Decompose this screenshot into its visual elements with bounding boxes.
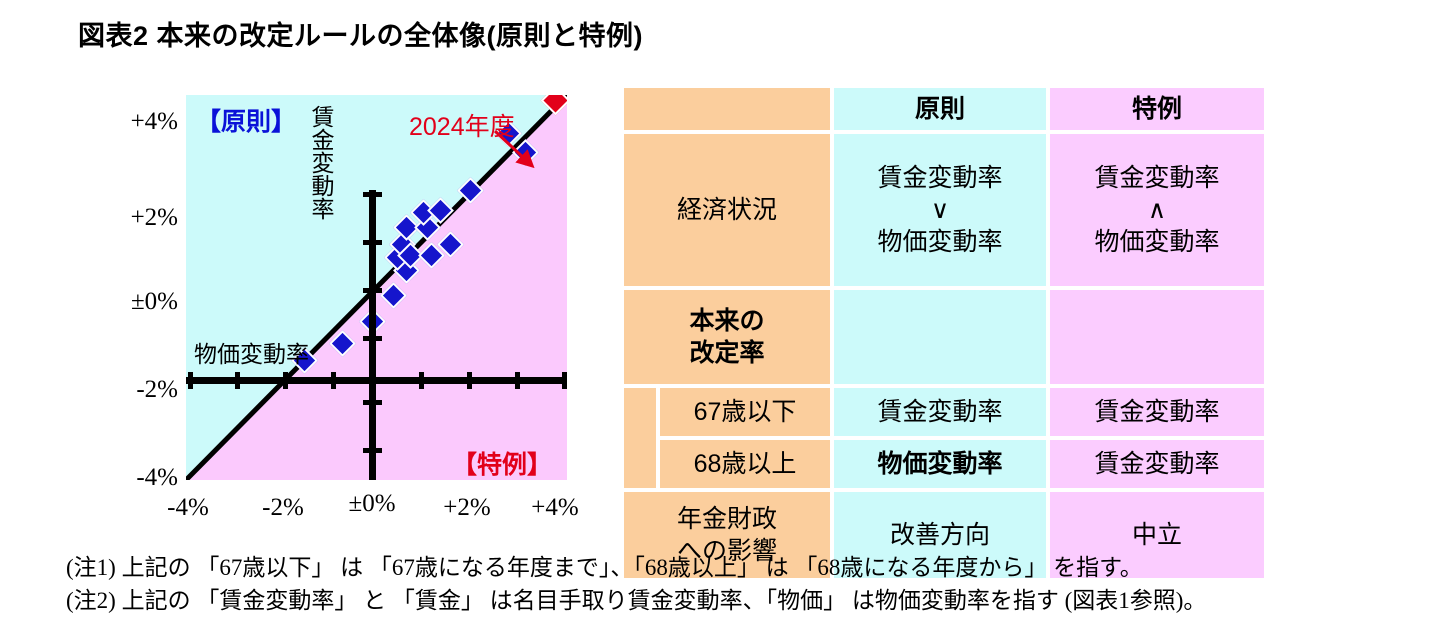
x-tick-label: -2% — [243, 494, 323, 522]
scatter-chart: 【原則】 【特例】 — [0, 80, 610, 540]
cell-revision-gensoku — [832, 288, 1048, 386]
x-tick-label: ±0% — [332, 490, 412, 518]
y-tick-label: ±0% — [131, 288, 178, 316]
x-tick — [562, 372, 567, 389]
annotation-arrow-icon — [492, 128, 552, 178]
y-tick — [363, 288, 382, 293]
y-tick-label: -2% — [136, 376, 178, 404]
row-label-over68: 68歳以上 — [658, 438, 832, 490]
row-label-economy: 経済状況 — [622, 132, 832, 288]
x-tick-label: +2% — [427, 494, 507, 522]
y-tick-label: +4% — [131, 108, 178, 136]
table-header-gensoku: 原則 — [832, 86, 1048, 132]
table-row-economy: 経済状況 賃金変動率 ∨ 物価変動率 賃金変動率 ∧ 物価変動率 — [622, 132, 1266, 288]
x-tick — [331, 372, 336, 389]
table-header-blank — [622, 86, 832, 132]
cell-line: 物価変動率 — [1050, 226, 1264, 258]
x-tick — [283, 372, 288, 389]
x-axis-line — [186, 377, 567, 384]
x-tick-label: +4% — [515, 494, 595, 522]
cell-economy-gensoku: 賃金変動率 ∨ 物価変動率 — [832, 132, 1048, 288]
cell-line: 年金財政 — [624, 503, 830, 535]
region-label-tokurei: 【特例】 — [452, 445, 552, 480]
x-tick — [235, 372, 240, 389]
row-label-under67: 67歳以下 — [658, 386, 832, 438]
figure-notes: (注1) 上記の 「67歳以下」 は 「67歳になる年度まで」、「68歳以上」 … — [66, 552, 1446, 617]
y-tick-label: +2% — [131, 204, 178, 232]
x-axis-title: 物価変動率 — [194, 335, 309, 369]
table-header-tokurei: 特例 — [1048, 86, 1266, 132]
x-tick — [515, 372, 520, 389]
row-label-revision-rate: 本来の 改定率 — [622, 288, 832, 386]
y-tick — [363, 192, 382, 197]
cell-under67-gensoku: 賃金変動率 — [832, 386, 1048, 438]
cell-economy-tokurei: 賃金変動率 ∧ 物価変動率 — [1048, 132, 1266, 288]
cell-line: 賃金変動率 — [834, 162, 1046, 194]
y-tick-label: -4% — [136, 464, 178, 492]
cell-line: ∧ — [1050, 194, 1264, 226]
cell-revision-tokurei — [1048, 288, 1266, 386]
note-2: (注2) 上記の 「賃金変動率」 と 「賃金」 は名目手取り賃金変動率、「物価」… — [66, 585, 1446, 618]
cell-line: 本来の — [624, 305, 830, 337]
figure-root: 図表2 本来の改定ルールの全体像(原則と特例) 【原則】 【特例】 — [0, 0, 1446, 627]
y-tick — [363, 336, 382, 341]
cell-under67-tokurei: 賃金変動率 — [1048, 386, 1266, 438]
table-row-revision-rate: 本来の 改定率 — [622, 288, 1266, 386]
cell-line: 賃金変動率 — [1050, 162, 1264, 194]
row-indent-spacer — [622, 386, 658, 490]
cell-line: 改定率 — [624, 337, 830, 369]
cell-line: 物価変動率 — [834, 226, 1046, 258]
table-row-under67: 67歳以下 賃金変動率 賃金変動率 — [622, 386, 1266, 438]
y-axis-line — [369, 190, 376, 480]
y-tick — [363, 240, 382, 245]
table-row-over68: 68歳以上 物価変動率 賃金変動率 — [622, 438, 1266, 490]
x-tick — [467, 372, 472, 389]
cell-over68-tokurei: 賃金変動率 — [1048, 438, 1266, 490]
y-axis-title: 賃金変動率 — [309, 105, 332, 220]
x-tick — [188, 372, 193, 389]
y-tick — [363, 448, 382, 453]
rules-table: 原則 特例 経済状況 賃金変動率 ∨ 物価変動率 賃金変動率 ∧ 物価変動率 — [622, 86, 1266, 580]
page-title: 図表2 本来の改定ルールの全体像(原則と特例) — [78, 14, 643, 53]
cell-over68-gensoku: 物価変動率 — [832, 438, 1048, 490]
table-header-row: 原則 特例 — [622, 86, 1266, 132]
note-1: (注1) 上記の 「67歳以下」 は 「67歳になる年度まで」、「68歳以上」 … — [66, 552, 1446, 585]
x-tick — [419, 372, 424, 389]
cell-line: ∨ — [834, 194, 1046, 226]
region-label-gensoku: 【原則】 — [196, 102, 296, 138]
x-tick-label: -4% — [148, 494, 228, 522]
y-tick — [363, 400, 382, 405]
